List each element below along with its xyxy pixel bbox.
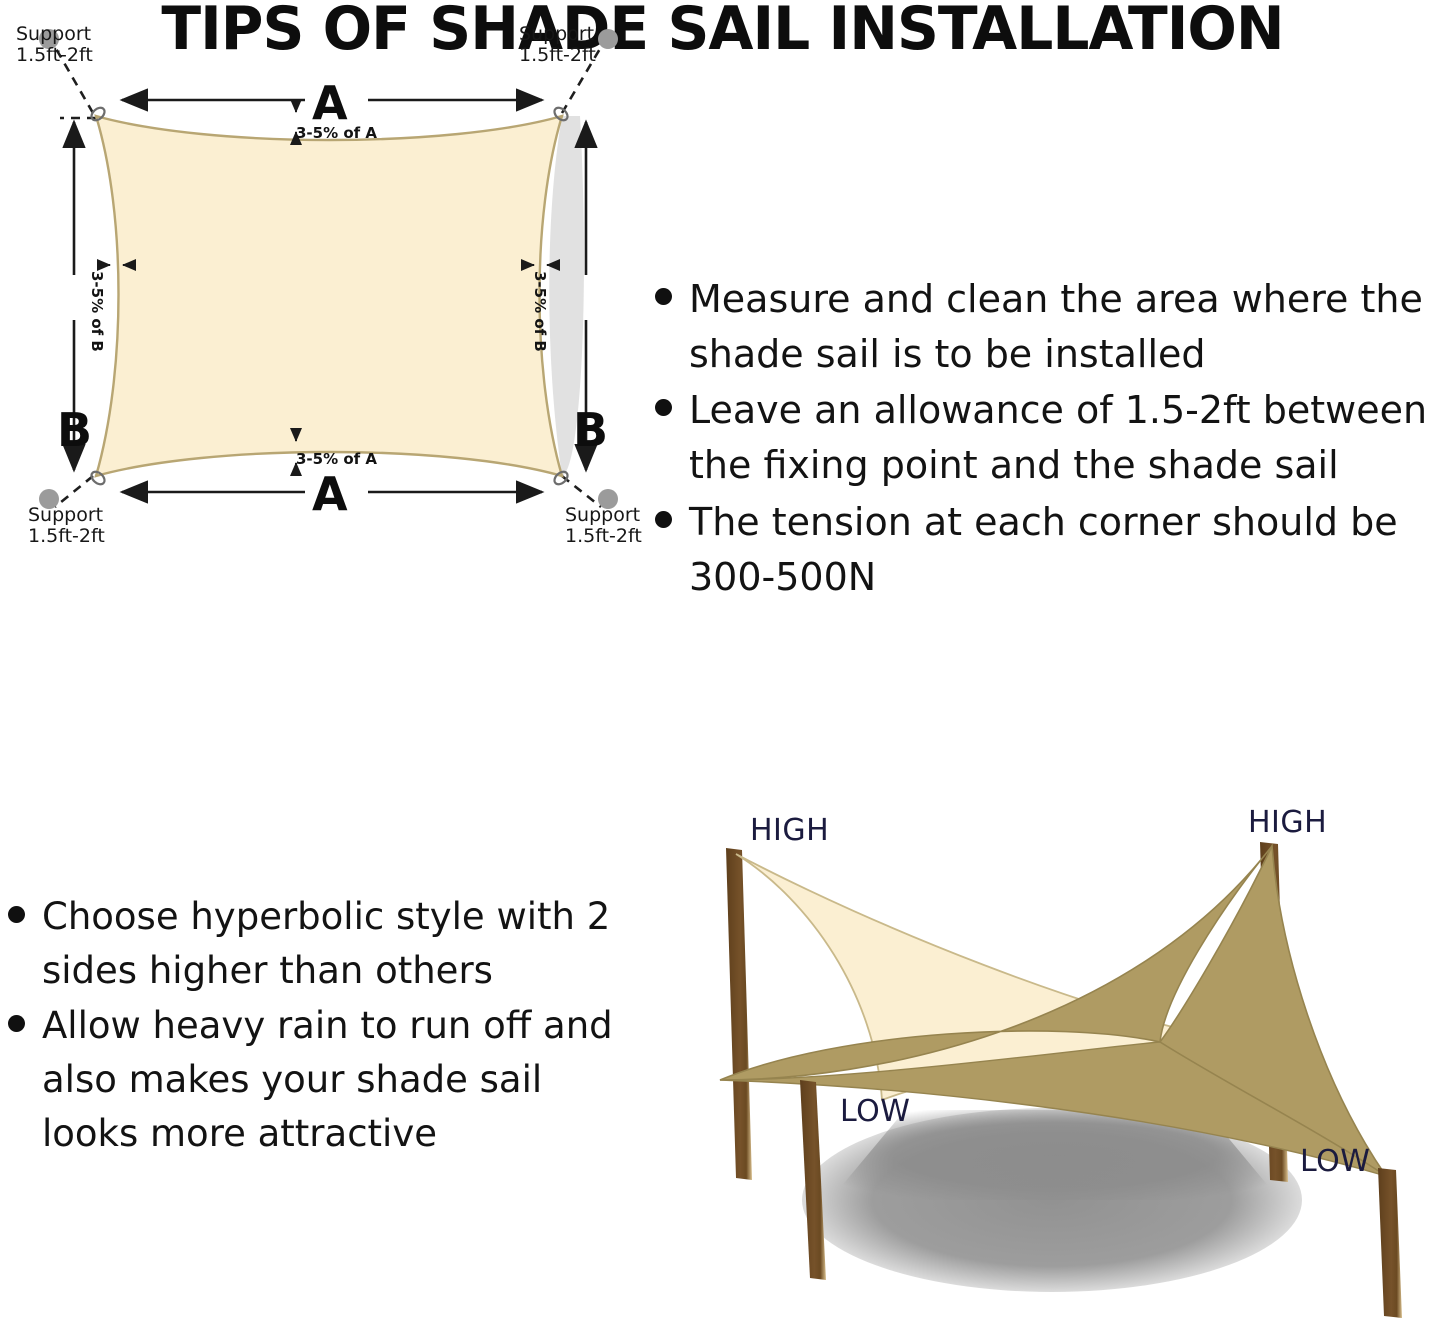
post-front-right [1378,1168,1402,1318]
support-label-line1: Support [28,505,105,526]
tips-list-bottom-left: Choose hyperbolic style with 2 sides hig… [8,890,628,1162]
bullet-dot-icon [8,1015,25,1032]
label-low-right: LOW [1300,1144,1370,1179]
list-item: Choose hyperbolic style with 2 sides hig… [8,890,628,997]
list-item-label: Allow heavy rain to run off and also mak… [42,999,628,1160]
hyperbolic-sail-svg [660,780,1445,1319]
support-label-line2: 1.5ft-2ft [519,45,596,66]
sag-label-b-left: 3-5% of B [88,271,106,352]
rectangular-sail-diagram: Support 1.5ft-2ft Support 1.5ft-2ft Supp… [0,0,660,570]
dimension-label-b-left: B [57,407,92,453]
sag-label-b-right: 3-5% of B [531,271,549,352]
list-item: The tension at each corner should be 300… [655,495,1445,604]
support-label-line2: 1.5ft-2ft [16,45,93,66]
sag-label-a-top: 3-5% of A [296,124,377,142]
hyperbolic-sail-illustration: HIGH HIGH LOW LOW [660,780,1445,1319]
list-item: Measure and clean the area where the sha… [655,272,1445,381]
support-label-line2: 1.5ft-2ft [565,526,642,547]
support-label-line1: Support [16,24,93,45]
dimension-label-a-bottom: A [312,471,348,517]
sag-label-a-bottom: 3-5% of A [296,450,377,468]
support-label-line2: 1.5ft-2ft [28,526,105,547]
list-item-label: The tension at each corner should be 300… [689,495,1445,604]
support-label-bottom-right: Support 1.5ft-2ft [565,505,642,548]
support-label-top-right: Support 1.5ft-2ft [519,24,596,67]
list-item-label: Measure and clean the area where the sha… [689,272,1445,381]
label-high-left: HIGH [750,813,829,848]
bullet-dot-icon [8,906,25,923]
sail-shape [96,116,562,476]
list-item: Allow heavy rain to run off and also mak… [8,999,628,1160]
support-label-top-left: Support 1.5ft-2ft [16,24,93,67]
label-high-right: HIGH [1248,805,1327,840]
dimension-label-b-right: B [573,407,608,453]
bullet-dot-icon [655,399,672,416]
bullet-dot-icon [655,511,672,528]
support-label-line1: Support [519,24,596,45]
list-item-label: Leave an allowance of 1.5-2ft between th… [689,383,1445,492]
tips-list-top-right: Measure and clean the area where the sha… [655,272,1445,606]
bullet-dot-icon [655,288,672,305]
dimension-label-a-top: A [312,80,348,126]
list-item-label: Choose hyperbolic style with 2 sides hig… [42,890,628,997]
support-label-bottom-left: Support 1.5ft-2ft [28,505,105,548]
support-label-line1: Support [565,505,642,526]
label-low-left: LOW [840,1094,910,1129]
list-item: Leave an allowance of 1.5-2ft between th… [655,383,1445,492]
